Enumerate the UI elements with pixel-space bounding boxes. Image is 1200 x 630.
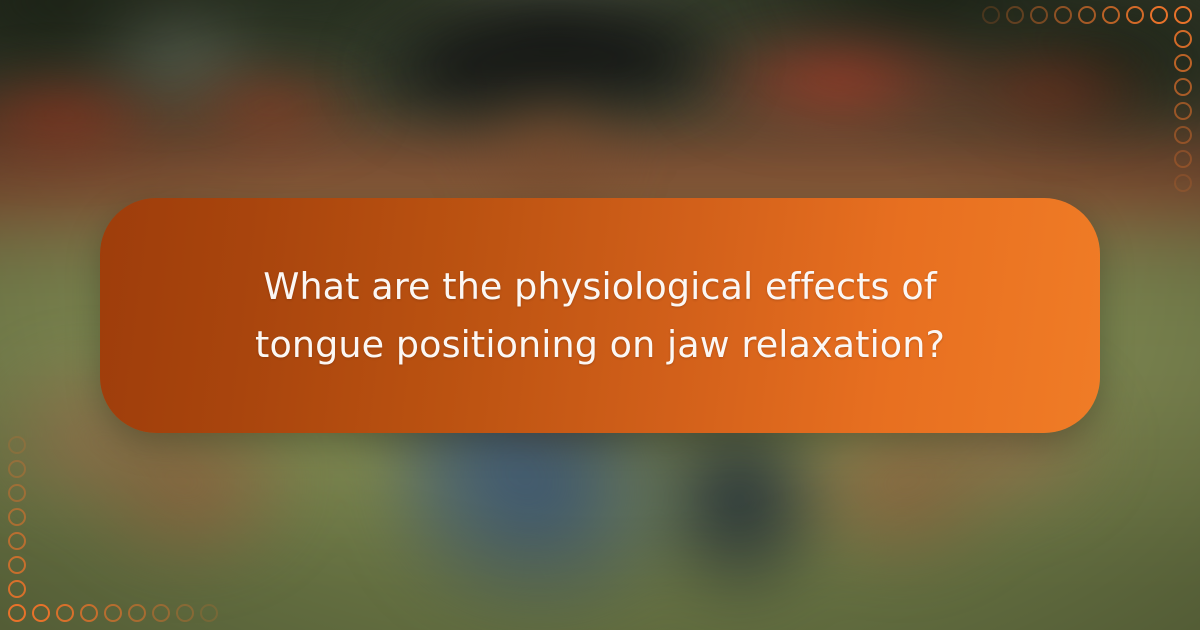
poster-canvas: What are the physiological effects of to… (0, 0, 1200, 630)
question-text: What are the physiological effects of to… (210, 258, 990, 373)
question-card: What are the physiological effects of to… (100, 198, 1100, 433)
